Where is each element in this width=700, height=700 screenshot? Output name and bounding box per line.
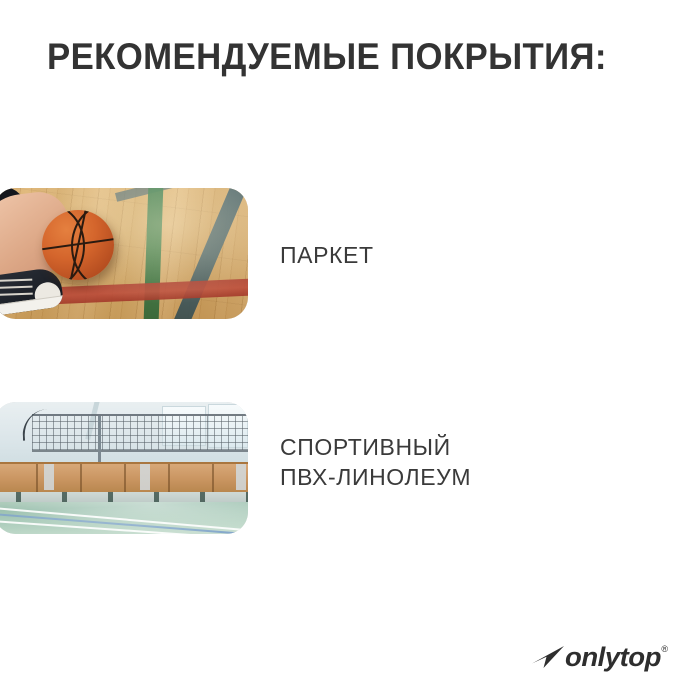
brand-logo-wordmark: onlytop bbox=[565, 644, 661, 671]
gym-radiators bbox=[0, 464, 248, 490]
sneaker-laces bbox=[0, 279, 32, 283]
registered-trademark-icon: ® bbox=[661, 644, 668, 654]
basketball bbox=[42, 210, 114, 280]
parquet-thumbnail bbox=[0, 188, 248, 319]
volleyball-net bbox=[32, 414, 248, 452]
onlytop-arrow-mark bbox=[531, 645, 565, 669]
linoleum-thumbnail bbox=[0, 402, 248, 534]
parquet-basketball-court-photo bbox=[0, 188, 248, 319]
slide-canvas: РЕКОМЕНДУЕМЫЕ ПОКРЫТИЯ: bbox=[0, 0, 700, 700]
coverage-label-pvc-linoleum: СПОРТИВНЫЙ ПВХ-ЛИНОЛЕУМ bbox=[280, 432, 471, 492]
gym-pvc-linoleum-floor-photo bbox=[0, 402, 248, 534]
volleyball-net-pole bbox=[98, 416, 101, 468]
brand-logo: onlytop ® bbox=[531, 642, 668, 672]
floor-gloss-reflection bbox=[0, 502, 248, 534]
basketball-seam-right bbox=[71, 210, 114, 280]
pvc-linoleum-floor-surface bbox=[0, 502, 248, 534]
page-title: РЕКОМЕНДУЕМЫЕ ПОКРЫТИЯ: bbox=[47, 36, 607, 78]
coverage-label-parquet: ПАРКЕТ bbox=[280, 240, 374, 270]
